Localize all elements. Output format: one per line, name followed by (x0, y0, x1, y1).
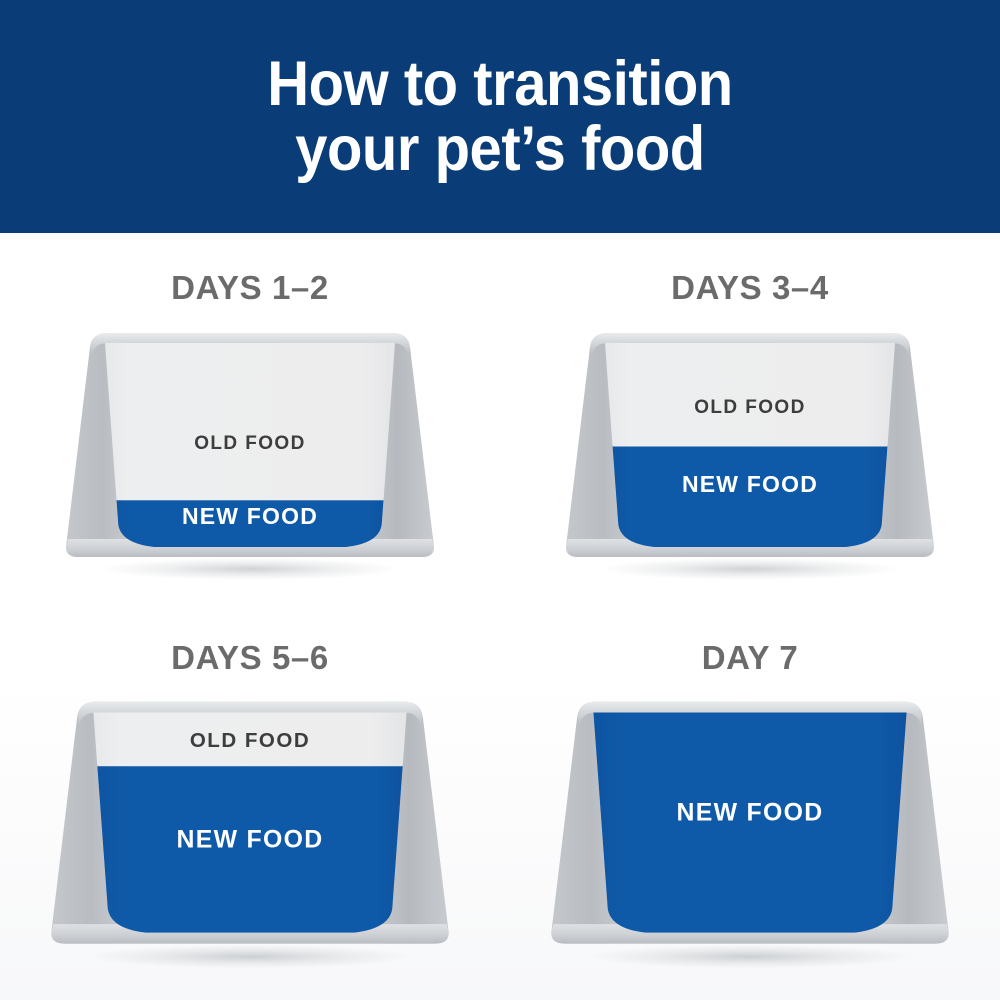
new-food-label: NEW FOOD (682, 471, 818, 497)
bowl-illustration-days-3-4: OLD FOOD NEW FOOD (550, 325, 950, 587)
step-card-days-1-2: DAYS 1–2 (0, 233, 500, 616)
pet-food-bowl-graphic: OLD FOOD NEW FOOD (34, 693, 466, 976)
step-card-day-7: DAY 7 (500, 616, 1000, 1000)
step-heading-days-1-2: DAYS 1–2 (171, 269, 329, 307)
bowl-drop-shadow (600, 558, 900, 580)
new-food-fill (590, 447, 910, 555)
bowl-illustration-days-5-6: OLD FOOD NEW FOOD (34, 693, 466, 976)
transition-steps-area: DAYS 1–2 (0, 233, 1000, 1000)
new-food-label: NEW FOOD (177, 826, 324, 853)
bowl-drop-shadow (100, 558, 400, 580)
bowl-drop-shadow (588, 945, 912, 969)
header-banner: How to transition your pet’s food (0, 0, 1000, 233)
old-food-label: OLD FOOD (190, 729, 310, 752)
step-card-days-5-6: DAYS 5–6 (0, 616, 500, 1000)
step-card-days-3-4: DAYS 3–4 (500, 233, 1000, 616)
old-food-label: OLD FOOD (194, 433, 305, 454)
pet-food-bowl-graphic: OLD FOOD NEW FOOD (534, 693, 966, 976)
pet-food-bowl-graphic: OLD FOOD NEW FOOD (550, 325, 950, 587)
bowl-drop-shadow (88, 945, 412, 969)
step-heading-days-3-4: DAYS 3–4 (671, 269, 829, 307)
step-heading-days-5-6: DAYS 5–6 (171, 639, 329, 677)
bowl-illustration-day-7: OLD FOOD NEW FOOD (534, 693, 966, 976)
old-food-label: OLD FOOD (694, 397, 805, 418)
new-food-label: NEW FOOD (182, 503, 318, 529)
bowl-illustration-days-1-2: OLD FOOD NEW FOOD (50, 325, 450, 587)
step-heading-day-7: DAY 7 (702, 639, 799, 677)
page-title: How to transition your pet’s food (267, 52, 732, 182)
bowl-contents (590, 339, 910, 554)
new-food-label: NEW FOOD (677, 799, 824, 826)
pet-food-bowl-graphic: OLD FOOD NEW FOOD (50, 325, 450, 587)
bowl-grid: DAYS 1–2 (0, 233, 1000, 1000)
